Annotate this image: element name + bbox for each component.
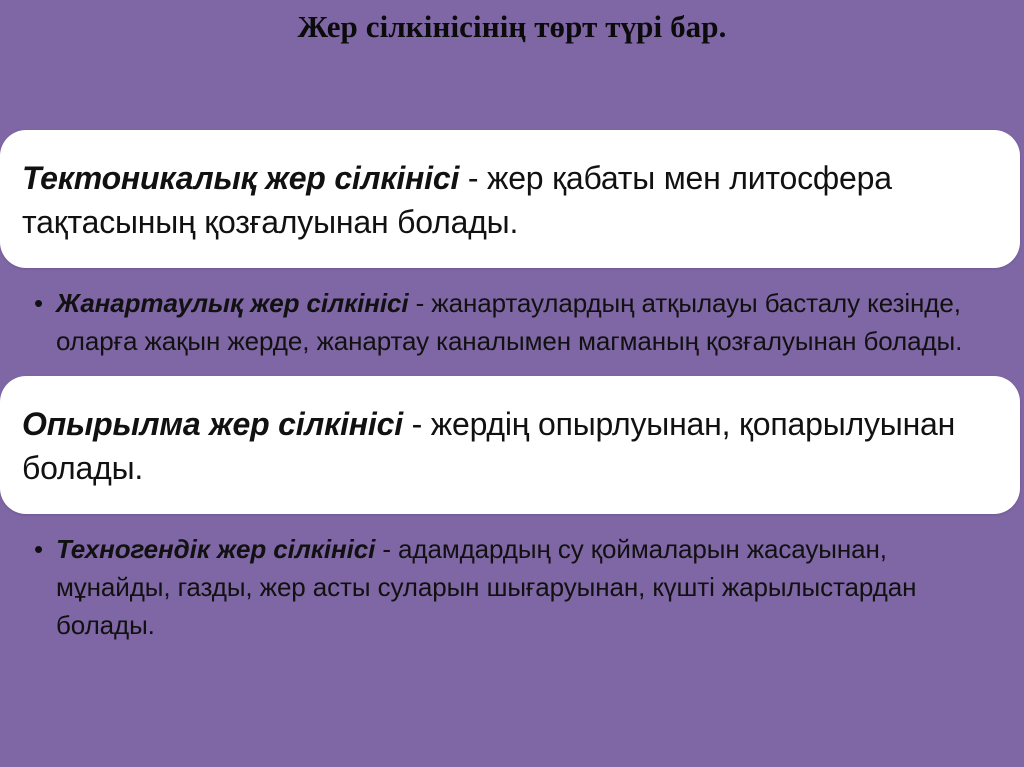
list-item-volcanic: • Жанартаулық жер сілкінісі - жанартаула… [0,274,1024,368]
bullet-icon: • [34,284,56,322]
term-collapse: Опырылма жер сілкінісі [22,406,403,442]
bullet-icon: • [34,530,56,568]
term-tectonic: Тектоникалық жер сілкінісі [22,160,459,196]
page-title: Жер сілкінісінің төрт түрі бар. [0,8,1024,46]
content-card-collapse: Опырылма жер сілкінісі - жердің опырлуын… [0,376,1020,514]
slide-content: Тектоникалық жер сілкінісі - жер қабаты … [0,130,1024,652]
slide: Жер сілкінісінің төрт түрі бар. Тектоник… [0,0,1024,767]
bullet-text-technogenic: Техногендік жер сілкінісі - адамдардың с… [56,530,994,644]
card-text-collapse: Опырылма жер сілкінісі - жердің опырлуын… [22,402,998,490]
card-text-tectonic: Тектоникалық жер сілкінісі - жер қабаты … [22,156,998,244]
spacer-2 [0,368,1024,376]
list-item-technogenic: • Техногендік жер сілкінісі - адамдардың… [0,520,1024,652]
bullet-text-volcanic: Жанартаулық жер сілкінісі - жанартаулард… [56,284,994,360]
term-technogenic: Техногендік жер сілкінісі [56,534,375,564]
content-card-tectonic: Тектоникалық жер сілкінісі - жер қабаты … [0,130,1020,268]
term-volcanic: Жанартаулық жер сілкінісі [56,288,409,318]
